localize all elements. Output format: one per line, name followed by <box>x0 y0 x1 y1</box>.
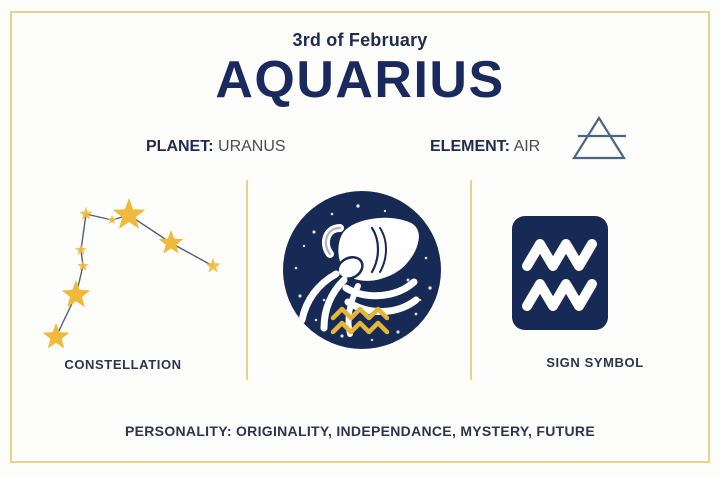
element-attribute: ELEMENT: AIR <box>430 138 540 156</box>
water-bearer-urn-icon <box>280 188 445 358</box>
date-line: 3rd of February <box>0 30 720 51</box>
attributes-row: PLANET: URANUS ELEMENT: AIR <box>0 138 720 164</box>
planet-value: URANUS <box>218 138 286 155</box>
aquarius-glyph-icon <box>510 214 610 337</box>
constellation-label: CONSTELLATION <box>0 357 246 372</box>
element-value: AIR <box>514 138 541 155</box>
planet-label: PLANET: <box>146 138 214 155</box>
divider-right <box>470 180 472 380</box>
header: 3rd of February AQUARIUS <box>0 30 720 106</box>
air-triangle-icon <box>568 110 630 171</box>
aquarius-constellation-icon <box>20 190 235 360</box>
personality-line: PERSONALITY: ORIGINALITY, INDEPENDANCE, … <box>0 423 720 439</box>
sign-symbol-label: SIGN SYMBOL <box>470 355 720 370</box>
planet-attribute: PLANET: URANUS <box>146 138 286 156</box>
element-label: ELEMENT: <box>430 138 510 155</box>
zodiac-infographic-card: 3rd of February AQUARIUS PLANET: URANUS … <box>0 0 720 478</box>
divider-left <box>246 180 248 380</box>
page-title: AQUARIUS <box>0 54 720 106</box>
